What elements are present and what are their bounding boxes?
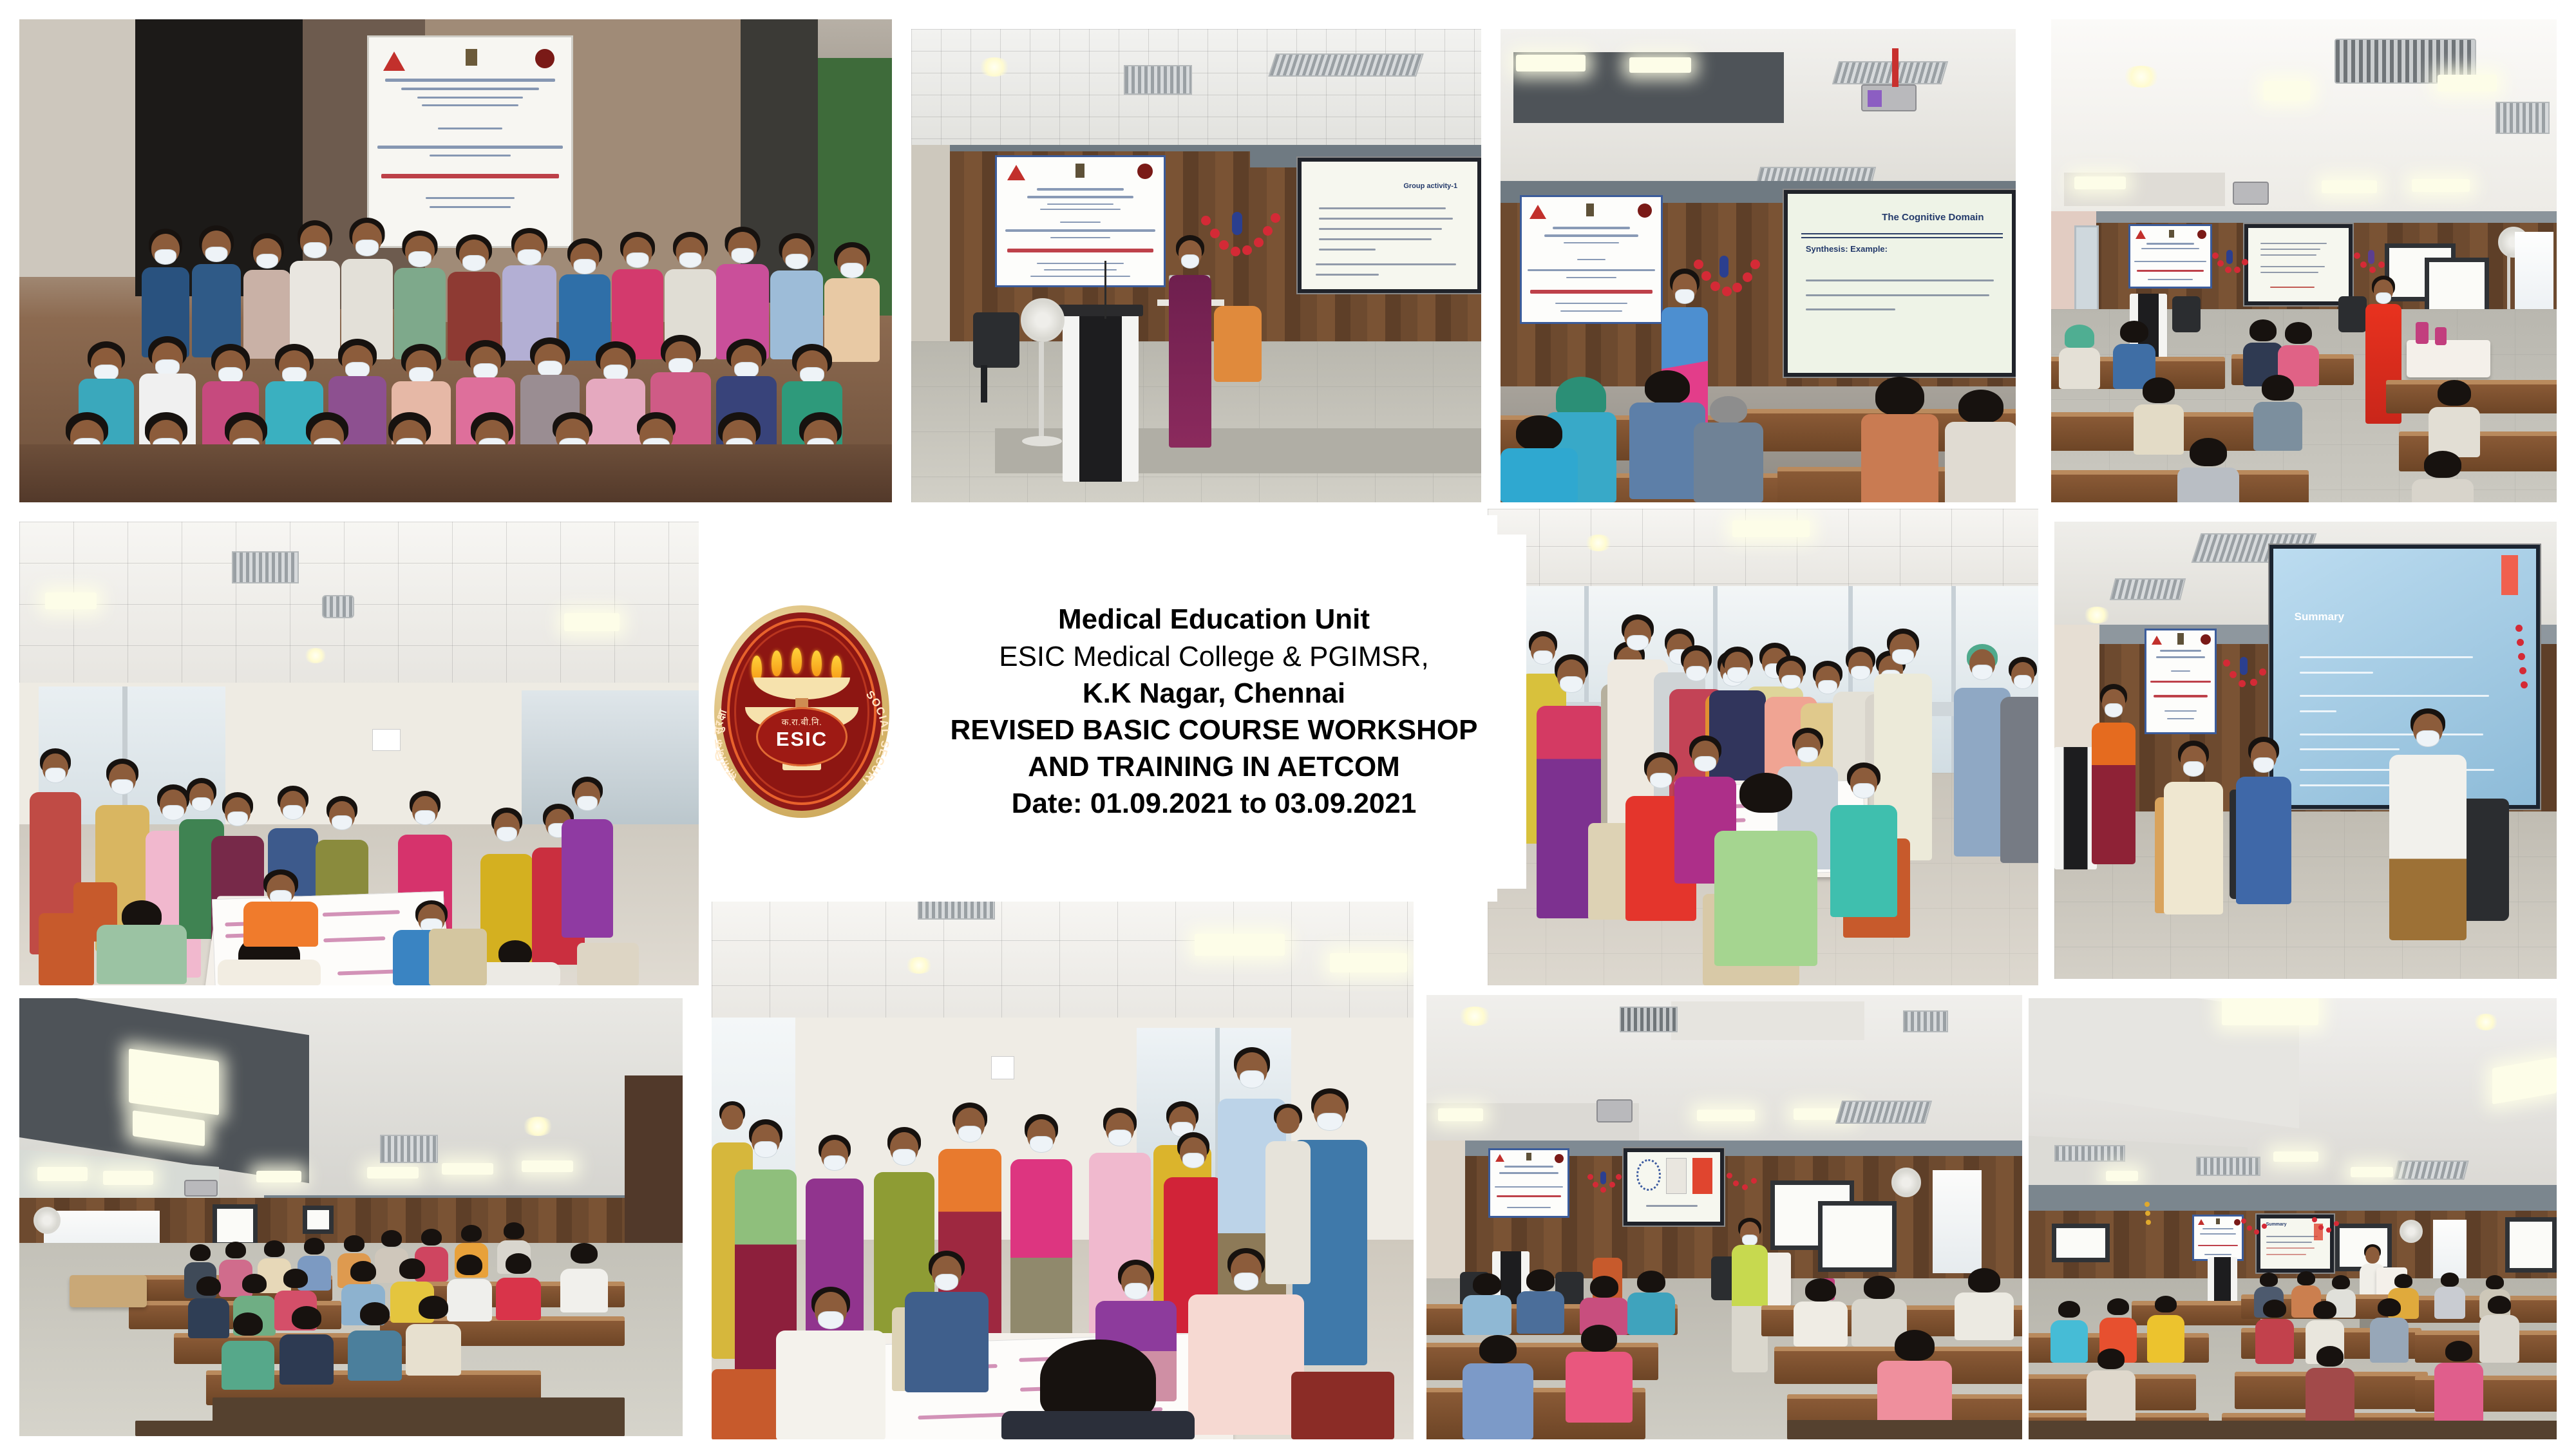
classroom-presenter-photo	[1426, 995, 2022, 1439]
small-group-discussion-center-photo	[712, 895, 1414, 1439]
event-banner	[2192, 1215, 2244, 1261]
esic-logo-arc-text: सामाजिक सुरक्षा SOCIAL SECURITY	[714, 665, 889, 800]
projector-screen: Group activity-1	[1298, 158, 1481, 293]
projector-screen	[1624, 1148, 1724, 1226]
center-title-panel: क.रा.बी.नि. ESIC सामाजिक सुरक्षा SOCIAL …	[702, 535, 1526, 889]
event-banner	[995, 155, 1166, 287]
projector-screen	[2244, 224, 2353, 305]
event-banner	[1520, 195, 1663, 324]
title-line-2: ESIC Medical College & PGIMSR,	[914, 638, 1513, 675]
title-line-4: REVISED BASIC COURSE WORKSHOP	[914, 712, 1513, 748]
cognitive-domain-lecture-photo: The Cognitive Domain Synthesis: Example:	[1501, 29, 2016, 502]
small-group-discussion-right-photo	[1488, 509, 2038, 985]
title-line-6: Date: 01.09.2021 to 03.09.2021	[914, 785, 1513, 822]
speaker	[1169, 235, 1211, 448]
small-group-discussion-left-photo	[19, 522, 699, 985]
esic-emblem: क.रा.बी.नि. ESIC सामाजिक सुरक्षा SOCIAL …	[708, 602, 895, 821]
summary-session-photo: Summary	[2054, 522, 2557, 979]
event-banner	[2145, 629, 2217, 734]
ceiling-projector	[1861, 84, 1917, 111]
podium	[1063, 311, 1139, 482]
title-line-1: Medical Education Unit	[914, 601, 1513, 638]
title-line-3: K.K Nagar, Chennai	[914, 675, 1513, 712]
svg-text:सामाजिक सुरक्षा: सामाजिक सुरक्षा	[714, 707, 741, 783]
classroom-wide-photo	[2051, 19, 2557, 502]
podium-speaker-photo: Group activity-1	[911, 29, 1481, 502]
photo-collage: Group activity-1	[0, 0, 2576, 1449]
svg-text:SOCIAL SECURITY: SOCIAL SECURITY	[714, 665, 889, 788]
auditorium-session-right-photo: Summary	[2029, 998, 2557, 1439]
presenter	[1732, 1218, 1768, 1372]
event-banner	[2128, 224, 2212, 289]
auditorium-session-left-photo	[19, 998, 683, 1436]
group-portrait-photo	[19, 19, 892, 502]
event-banner	[1488, 1148, 1569, 1218]
title-block: Medical Education Unit ESIC Medical Coll…	[914, 601, 1520, 822]
title-line-5: AND TRAINING IN AETCOM	[914, 748, 1513, 785]
projector-screen: The Cognitive Domain Synthesis: Example:	[1784, 190, 2016, 377]
